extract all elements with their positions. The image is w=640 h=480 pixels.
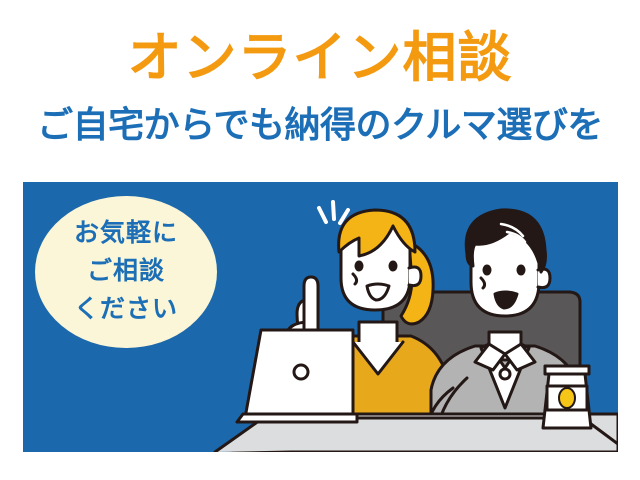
page-subtitle: ご自宅からでも納得のクルマ選びを [0,103,640,149]
badge-line-3: ください [35,290,217,328]
badge-line-1: お気軽に [35,214,217,252]
laptop-icon [237,330,357,422]
badge-text-group: お気軽に ご相談 ください [35,214,217,328]
coffee-cup-icon [543,366,591,428]
badge-line-2: ご相談 [35,252,217,290]
headline-block: オンライン相談 ご自宅からでも納得のクルマ選びを [0,0,640,175]
page-title: オンライン相談 [0,27,640,89]
illustration-panel: お気軽に ご相談 ください [23,182,618,452]
sparkle-lines-icon [319,202,348,223]
online-consultation-banner: オンライン相談 ご自宅からでも納得のクルマ選びを お気軽に ご相談 ください [0,0,640,480]
